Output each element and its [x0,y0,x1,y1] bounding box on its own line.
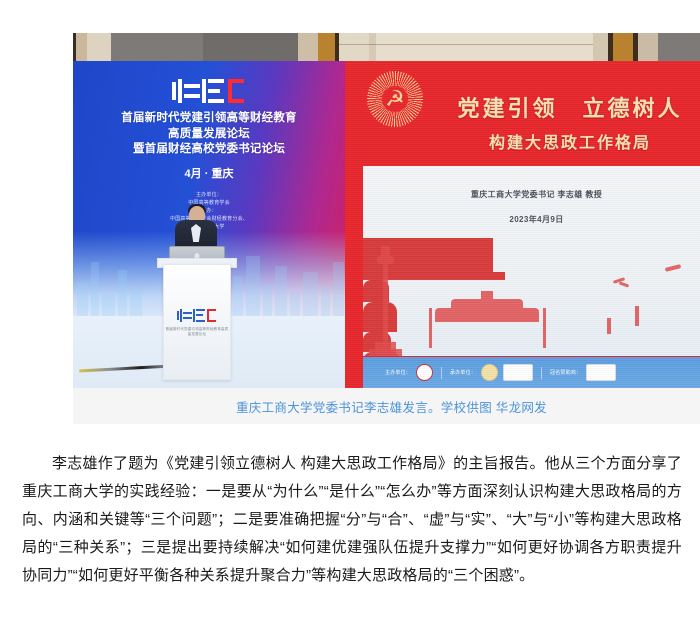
sponsor-strip: 主办单位： 承办单位： 冠名赞助商： [363,357,700,388]
banner-headline: 党建引领 立德树人 [435,91,700,123]
banner-left-title-line2: 高质量发展论坛 [73,127,345,143]
sponsor-label-1: 承办单位： [450,369,476,376]
hammer-sickle-icon: ☭ [385,88,405,110]
heec-logo-icon [172,79,246,103]
lectern-heec-logo-icon [177,309,217,322]
figure-caption-bar: 重庆工商大学党委书记李志雄发言。学校供图 华龙网发 [73,388,700,424]
banner-left-panel: 首届新时代党建引领高等财经教育 高质量发展论坛 暨首届财经高校党委书记论坛 4月… [73,61,345,388]
organizer-seal-icon [416,364,433,381]
banner-left-title-line1: 首届新时代党建引领高等财经教育 [73,111,345,127]
wall-seam [339,44,593,45]
hall-wall [73,33,700,63]
article-photo[interactable]: 首届新时代党建引领高等财经教育 高质量发展论坛 暨首届财经高校党委书记论坛 4月… [73,33,700,388]
sponsor-label-3: 冠名赞助商： [550,369,581,376]
article-paragraph: 李志雄作了题为《党建引领立德树人 构建大思政工作格局》的主旨报告。他从三个方面分… [22,450,682,590]
organizer-line1: 主办单位： [73,191,345,199]
lectern-subtitle: 首届新时代党建引领高等财经教育高质量发展论坛 [164,327,230,337]
banner-right-panel: ☭ 党建引领 立德树人 构建大思政工作格局 重庆工商大学党委书记 李志雄 教授 … [345,61,700,388]
article-body: 李志雄作了题为《党建引领立德树人 构建大思政工作格局》的主旨报告。他从三个方面分… [22,450,682,590]
slide-speaker-line: 重庆工商大学党委书记 李志雄 教授 [363,189,700,200]
partner-logo-icon [503,364,533,381]
organizer-line3: 承办： [73,207,345,215]
banner-subheadline: 构建大思政工作格局 [435,129,700,153]
organizer-line2: 中国高等教育学会 [73,199,345,207]
figure-caption: 重庆工商大学党委书记李志雄发言。学校供图 华龙网发 [236,397,547,416]
sponsor-divider-2 [541,367,542,379]
banner-left-date: 4月 · 重庆 [73,165,345,181]
presentation-slide: 重庆工商大学党委书记 李志雄 教授 2023年4月9日 [363,166,700,356]
speaker-shirt [191,224,201,242]
article-figure: 首届新时代党建引领高等财经教育 高质量发展论坛 暨首届财经高校党委书记论坛 4月… [73,33,700,424]
banner-left-title-line3: 暨首届财经高校党委书记论坛 [73,142,345,158]
host-seal-icon [481,364,498,381]
sponsor-label-0: 主办单位： [385,369,411,376]
landmark-artwork [363,238,700,356]
lectern: 首届新时代党建引领高等财经教育高质量发展论坛 [163,264,231,380]
sponsor-logo-icon [586,364,616,381]
led-screen: 首届新时代党建引领高等财经教育 高质量发展论坛 暨首届财经高校党委书记论坛 4月… [73,61,700,388]
sponsor-divider [441,367,442,379]
banner-left-title: 首届新时代党建引领高等财经教育 高质量发展论坛 暨首届财经高校党委书记论坛 [73,111,345,158]
party-emblem-icon: ☭ [367,71,423,127]
slide-date: 2023年4月9日 [363,214,700,225]
